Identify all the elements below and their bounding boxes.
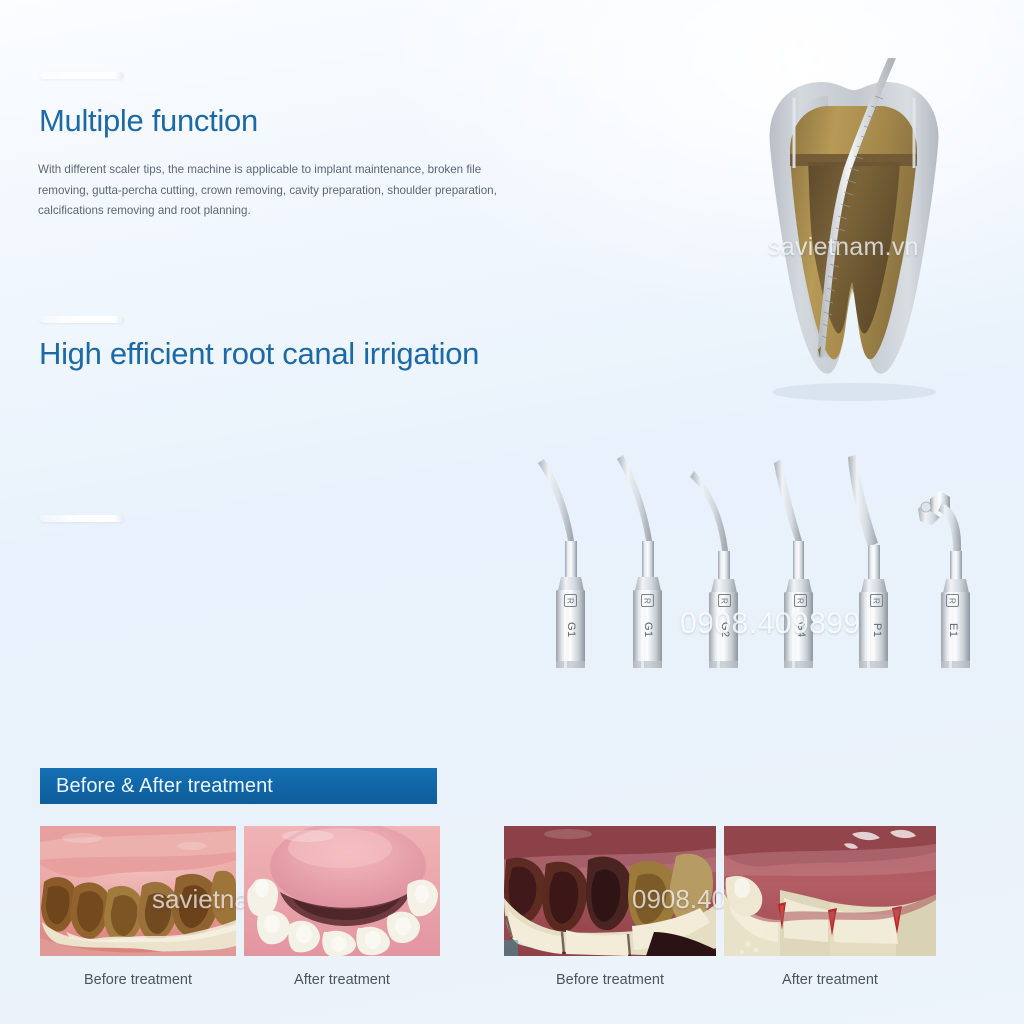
photo-pair: 0908.40.9899 [504, 826, 936, 956]
tip-label: G1 [640, 609, 654, 651]
section-heading-multiple-function: Multiple function [39, 103, 258, 139]
tooth-cross-section-illustration [742, 58, 962, 403]
clinical-photo-before-adult [504, 826, 716, 956]
watermark-savietnam: savietnam.vn [768, 233, 919, 262]
scaler-tip-g2[interactable]: R G2 [688, 455, 760, 685]
caption-row: Before treatment After treatment [504, 972, 936, 988]
scaler-tip-g1[interactable]: R G1 [534, 455, 606, 685]
caption-row: Before treatment After treatment [40, 972, 440, 988]
section-body-multiple-function: With different scaler tips, the machine … [38, 160, 530, 222]
photo-caption-after: After treatment [244, 972, 440, 988]
tip-label: P1 [869, 609, 883, 651]
scaler-tips-row: R G1 R G1 [512, 455, 972, 685]
accent-bar-decoration [40, 72, 124, 79]
scaler-tip-e1[interactable]: R E1 [916, 455, 988, 685]
tip-brand-mark: R [641, 594, 654, 607]
photo-caption-after: After treatment [724, 972, 936, 988]
clinical-photo-after-child [244, 826, 440, 956]
tip-brand-mark: R [870, 594, 883, 607]
photo-cell-before[interactable]: savietnam.vn [40, 826, 236, 956]
scaler-tip-g1-alt[interactable]: R G1 [611, 455, 683, 685]
product-feature-page: Multiple function With different scaler … [0, 0, 1024, 1024]
scaler-tip-g4[interactable]: R G4 [764, 455, 836, 685]
tip-label: E1 [945, 609, 959, 651]
tip-label: G1 [563, 609, 577, 651]
tip-brand-mark: R [946, 594, 959, 607]
photo-cell-before[interactable]: 0908.40.9899 [504, 826, 716, 956]
section-heading-root-canal-irrigation: High efficient root canal irrigation [39, 336, 479, 372]
clinical-photo-after-adult [724, 826, 936, 956]
scaler-tip-p1[interactable]: R P1 [840, 455, 912, 685]
watermark-phone-number: 0908.409899 [680, 607, 861, 641]
tip-brand-mark: R [718, 594, 731, 607]
before-after-banner-title: Before & After treatment [56, 775, 273, 798]
photo-caption-before: Before treatment [40, 972, 236, 988]
tip-brand-mark: R [564, 594, 577, 607]
photo-cell-after[interactable] [244, 826, 440, 956]
clinical-photo-before-child [40, 826, 236, 956]
accent-bar-decoration [40, 515, 124, 522]
photo-pair: savietnam.vn [40, 826, 440, 956]
tip-brand-mark: R [794, 594, 807, 607]
photo-caption-before: Before treatment [504, 972, 716, 988]
before-after-group-adult: 0908.40.9899 [504, 826, 936, 988]
photo-cell-after[interactable] [724, 826, 936, 956]
accent-bar-decoration [40, 316, 124, 323]
before-after-group-child: savietnam.vn [40, 826, 440, 988]
before-after-banner: Before & After treatment [40, 768, 437, 804]
